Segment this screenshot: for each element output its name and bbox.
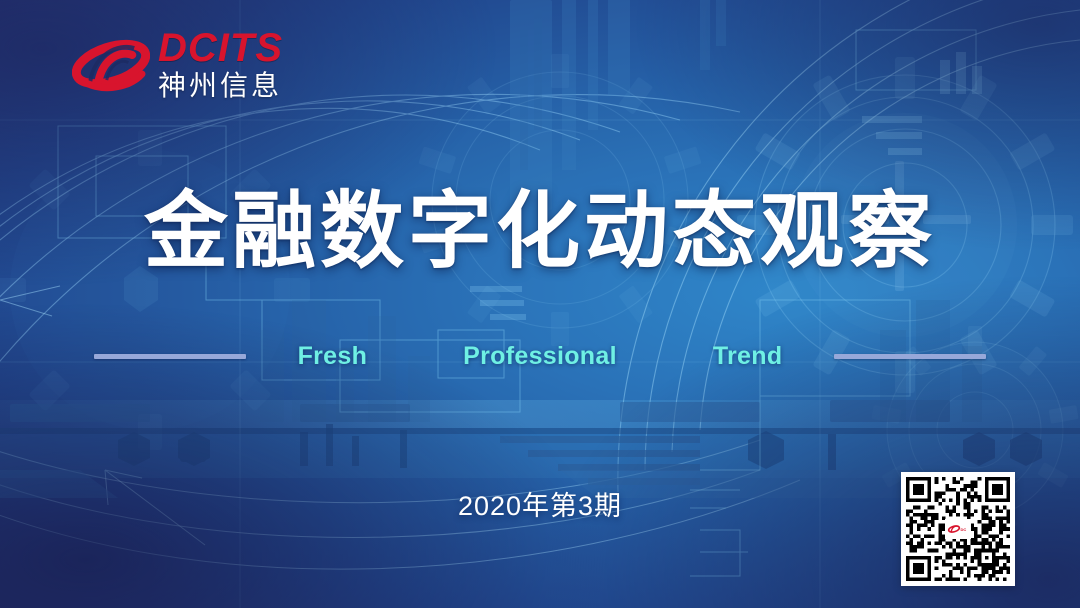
dcits-swirl-mark-icon bbox=[72, 30, 150, 98]
tagline-row: Fresh Professional Trend bbox=[0, 340, 1080, 372]
tagline-word-fresh: Fresh bbox=[298, 342, 368, 371]
svg-text:DC: DC bbox=[961, 527, 967, 532]
page-title: 金融数字化动态观察 bbox=[0, 186, 1080, 277]
cover-slide: DCITS 神州信息 金融数字化动态观察 Fresh Professional … bbox=[0, 0, 1080, 608]
qr-center-logo-icon: DC bbox=[945, 519, 971, 539]
logo-wordmark: DCITS 神州信息 bbox=[158, 28, 283, 100]
tagline-rule-left bbox=[94, 354, 246, 359]
tagline-rule-right bbox=[834, 354, 986, 359]
tagline-word-professional: Professional bbox=[463, 342, 617, 371]
tagline-word-trend: Trend bbox=[713, 342, 783, 371]
qr-code[interactable]: DC bbox=[901, 472, 1015, 586]
qr-canvas: DC bbox=[906, 477, 1010, 581]
dcits-logo: DCITS 神州信息 bbox=[72, 28, 283, 100]
logo-chinese: 神州信息 bbox=[158, 72, 283, 100]
logo-english: DCITS bbox=[158, 28, 283, 68]
